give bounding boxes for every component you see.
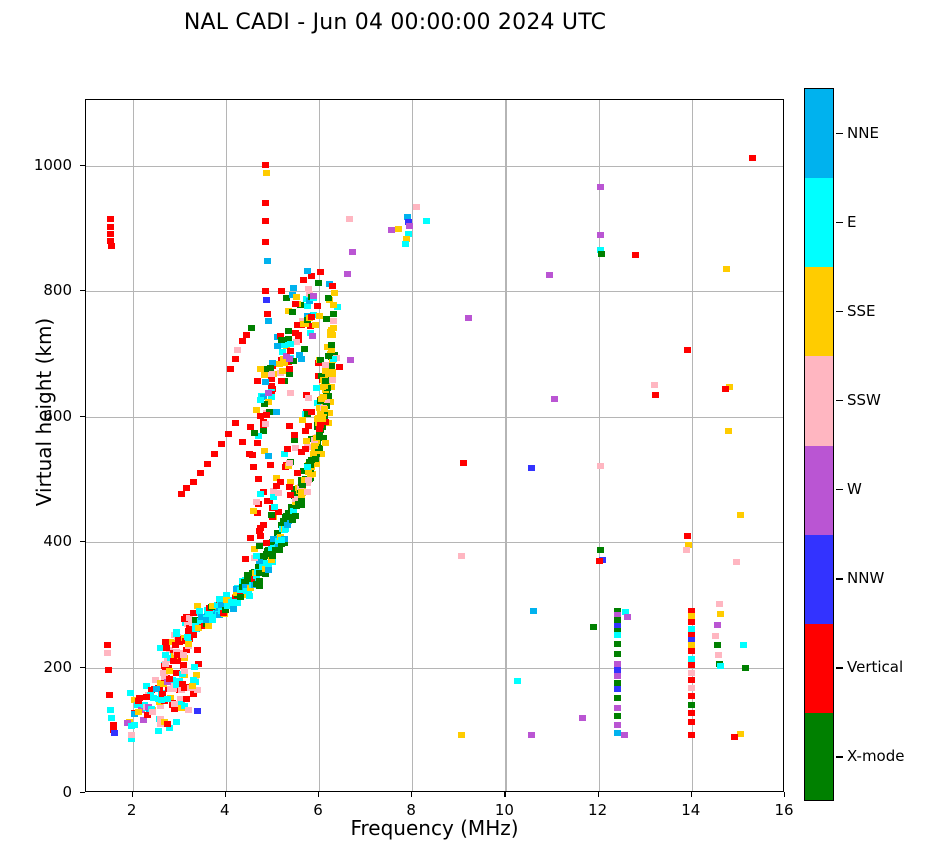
echo-mark [551, 396, 558, 402]
echo-mark [164, 696, 171, 702]
echo-mark [262, 218, 269, 224]
colorbar-segment-vertical[interactable] [805, 624, 833, 714]
echo-mark [614, 713, 621, 719]
echo-mark [284, 446, 291, 452]
echo-mark [688, 702, 695, 708]
echo-mark [614, 705, 621, 711]
x-axis-tick [132, 792, 133, 797]
echo-mark [315, 280, 322, 286]
echo-mark [322, 440, 329, 446]
colorbar-tick [836, 400, 843, 401]
gridline-vertical [599, 100, 600, 791]
echo-mark [275, 490, 282, 496]
echo-mark [287, 390, 294, 396]
colorbar-label-nne: NNE [847, 124, 879, 142]
echo-mark [614, 632, 621, 638]
echo-mark [344, 271, 351, 277]
echo-mark [225, 431, 232, 437]
echo-mark [321, 406, 328, 412]
echo-mark [246, 593, 253, 599]
echo-mark [714, 622, 721, 628]
echo-mark [298, 502, 305, 508]
echo-mark [265, 390, 272, 396]
echo-mark [104, 650, 111, 656]
echo-mark [162, 639, 169, 645]
colorbar-segment-sse[interactable] [805, 267, 833, 357]
echo-mark [243, 332, 250, 338]
echo-mark [286, 484, 293, 490]
echo-mark [314, 303, 321, 309]
echo-mark [317, 269, 324, 275]
y-axis-tick-label: 1000 [34, 156, 72, 174]
echo-mark [749, 155, 756, 161]
gridline-vertical [226, 100, 227, 791]
echo-mark [286, 366, 293, 372]
echo-mark [181, 668, 188, 674]
echo-mark [263, 297, 270, 303]
echo-mark [279, 368, 286, 374]
echo-mark [262, 200, 269, 206]
echo-mark [251, 430, 258, 436]
echo-mark [204, 461, 211, 467]
echo-mark [712, 633, 719, 639]
echo-mark [530, 608, 537, 614]
echo-mark [311, 443, 318, 449]
echo-mark [105, 667, 112, 673]
ionogram-figure: NAL CADI - Jun 04 00:00:00 2024 UTC 2468… [0, 0, 951, 856]
echo-mark [164, 721, 171, 727]
echo-mark [319, 416, 326, 422]
echo-mark [262, 421, 269, 427]
echo-mark [286, 423, 293, 429]
echo-mark [301, 346, 308, 352]
echo-mark [330, 302, 337, 308]
echo-mark [597, 463, 604, 469]
x-axis-tick [691, 792, 692, 797]
echo-mark [111, 730, 118, 736]
echo-mark [107, 224, 114, 230]
colorbar[interactable] [804, 88, 834, 801]
echo-mark [171, 701, 178, 707]
echo-mark [688, 662, 695, 668]
echo-mark [135, 698, 142, 704]
echo-mark [284, 522, 291, 528]
echo-mark [184, 634, 191, 640]
plot-canvas [86, 100, 783, 791]
echo-mark [278, 537, 285, 543]
echo-mark [309, 333, 316, 339]
echo-mark [714, 642, 721, 648]
echo-mark [528, 732, 535, 738]
echo-mark [388, 227, 395, 233]
echo-mark [178, 491, 185, 497]
x-axis-tick [411, 792, 412, 797]
echo-mark [205, 623, 212, 629]
echo-mark [135, 709, 142, 715]
echo-mark [316, 434, 323, 440]
echo-mark [254, 440, 261, 446]
echo-mark [239, 338, 246, 344]
colorbar-tick [836, 311, 843, 312]
echo-mark [458, 732, 465, 738]
echo-mark [257, 491, 264, 497]
echo-mark [579, 715, 586, 721]
echo-mark [614, 695, 621, 701]
colorbar-tick [836, 133, 843, 134]
echo-mark [614, 680, 621, 686]
echo-mark [329, 283, 336, 289]
echo-mark [688, 719, 695, 725]
echo-mark [723, 266, 730, 272]
echo-mark [295, 332, 302, 338]
colorbar-tick [836, 667, 843, 668]
echo-mark [725, 428, 732, 434]
echo-mark [597, 184, 604, 190]
echo-mark [688, 619, 695, 625]
echo-mark [614, 686, 621, 692]
echo-mark [717, 611, 724, 617]
echo-mark [304, 464, 311, 470]
echo-mark [688, 685, 695, 691]
echo-mark [291, 432, 298, 438]
echo-mark [330, 318, 337, 324]
echo-mark [651, 382, 658, 388]
echo-mark [715, 652, 722, 658]
y-axis-tick-label: 200 [43, 658, 72, 676]
echo-mark [458, 553, 465, 559]
colorbar-segment-ssw[interactable] [805, 356, 833, 446]
echo-mark [267, 462, 274, 468]
gridline-horizontal [86, 291, 783, 292]
echo-mark [717, 663, 724, 669]
echo-mark [253, 553, 260, 559]
echo-mark [191, 664, 198, 670]
echo-mark [304, 489, 311, 495]
echo-mark [285, 328, 292, 334]
y-axis-tick [80, 165, 85, 166]
echo-mark [260, 522, 267, 528]
echo-mark [597, 232, 604, 238]
echo-mark [250, 464, 257, 470]
plot-area[interactable] [85, 99, 784, 792]
echo-mark [261, 372, 268, 378]
echo-mark [737, 512, 744, 518]
echo-mark [406, 223, 413, 229]
echo-mark [598, 251, 605, 257]
echo-mark [155, 728, 162, 734]
echo-mark [234, 347, 241, 353]
echo-mark [688, 693, 695, 699]
gridline-horizontal [86, 166, 783, 167]
echo-mark [173, 719, 180, 725]
echo-mark [688, 648, 695, 654]
echo-mark [305, 395, 312, 401]
echo-mark [688, 613, 695, 619]
echo-mark [304, 268, 311, 274]
echo-mark [308, 314, 315, 320]
colorbar-label-w: W [847, 480, 862, 498]
echo-mark [514, 678, 521, 684]
colorbar-tick [836, 489, 843, 490]
echo-mark [688, 656, 695, 662]
echo-mark [614, 722, 621, 728]
echo-mark [242, 556, 249, 562]
y-axis-tick [80, 416, 85, 417]
y-axis-tick [80, 290, 85, 291]
echo-mark [349, 249, 356, 255]
echo-mark [107, 216, 114, 222]
echo-mark [328, 342, 335, 348]
echo-mark [162, 661, 169, 667]
echo-mark [247, 535, 254, 541]
echo-mark [190, 479, 197, 485]
echo-mark [170, 658, 177, 664]
echo-mark [287, 492, 294, 498]
echo-mark [265, 318, 272, 324]
echo-mark [465, 315, 472, 321]
colorbar-segment-nne[interactable] [805, 89, 833, 179]
colorbar-segment-w[interactable] [805, 446, 833, 536]
gridline-horizontal [86, 417, 783, 418]
echo-mark [253, 499, 260, 505]
echo-mark [318, 396, 325, 402]
colorbar-segment-x-mode[interactable] [805, 713, 833, 801]
echo-mark [688, 670, 695, 676]
echo-mark [614, 730, 621, 736]
echo-mark [322, 378, 329, 384]
echo-mark [596, 558, 603, 564]
colorbar-segment-e[interactable] [805, 178, 833, 268]
echo-mark [265, 567, 272, 573]
echo-mark [614, 673, 621, 679]
echo-mark [740, 642, 747, 648]
echo-mark [211, 451, 218, 457]
echo-mark [254, 378, 261, 384]
echo-mark [262, 239, 269, 245]
echo-mark [614, 617, 621, 623]
echo-mark [316, 313, 323, 319]
colorbar-label-ssw: SSW [847, 391, 881, 409]
echo-mark [688, 677, 695, 683]
gridline-vertical [133, 100, 134, 791]
echo-mark [257, 366, 264, 372]
colorbar-tick [836, 756, 843, 757]
echo-mark [104, 642, 111, 648]
echo-mark [263, 170, 270, 176]
echo-mark [227, 366, 234, 372]
echo-mark [257, 397, 264, 403]
echo-mark [194, 647, 201, 653]
echo-mark [731, 734, 738, 740]
echo-mark [108, 243, 115, 249]
echo-mark [255, 476, 262, 482]
echo-mark [688, 732, 695, 738]
echo-mark [183, 696, 190, 702]
echo-mark [546, 272, 553, 278]
y-axis-tick [80, 541, 85, 542]
echo-mark [287, 348, 294, 354]
echo-mark [328, 363, 335, 369]
echo-mark [329, 377, 336, 383]
echo-mark [107, 231, 114, 237]
echo-mark [250, 508, 257, 514]
echo-mark [262, 288, 269, 294]
echo-mark [308, 409, 315, 415]
echo-mark [281, 451, 288, 457]
echo-mark [346, 216, 353, 222]
echo-mark [303, 438, 310, 444]
echo-mark [263, 412, 270, 418]
echo-mark [336, 364, 343, 370]
echo-mark [652, 392, 659, 398]
echo-mark [230, 606, 237, 612]
echo-mark [262, 162, 269, 168]
echo-mark [278, 378, 285, 384]
echo-mark [300, 277, 307, 283]
echo-mark [312, 456, 319, 462]
y-axis-title: Virtual height (km) [32, 202, 56, 622]
echo-mark [218, 441, 225, 447]
echo-mark [590, 624, 597, 630]
echo-mark [688, 710, 695, 716]
echo-mark [289, 309, 296, 315]
echo-mark [264, 258, 271, 264]
echo-mark [614, 667, 621, 673]
echo-mark [232, 420, 239, 426]
echo-mark [302, 446, 309, 452]
echo-mark [149, 709, 156, 715]
echo-mark [163, 645, 170, 651]
gridline-vertical [505, 100, 506, 791]
echo-mark [688, 642, 695, 648]
colorbar-tick [836, 222, 843, 223]
echo-mark [131, 722, 138, 728]
echo-mark [140, 717, 147, 723]
echo-mark [265, 453, 272, 459]
echo-mark [127, 690, 134, 696]
colorbar-segment-nnw[interactable] [805, 535, 833, 625]
echo-mark [189, 683, 196, 689]
echo-mark [312, 322, 319, 328]
echo-mark [460, 460, 467, 466]
echo-mark [330, 325, 337, 331]
echo-mark [423, 218, 430, 224]
echo-mark [322, 368, 329, 374]
echo-mark [528, 465, 535, 471]
x-axis-title: Frequency (MHz) [85, 816, 784, 840]
echo-mark [269, 553, 276, 559]
echo-mark [162, 652, 169, 658]
echo-mark [330, 311, 337, 317]
echo-mark [274, 343, 281, 349]
x-axis-tick [318, 792, 319, 797]
echo-mark [197, 470, 204, 476]
echo-mark [292, 513, 299, 519]
echo-mark [107, 707, 114, 713]
figure-title: NAL CADI - Jun 04 00:00:00 2024 UTC [0, 10, 790, 35]
echo-mark [614, 641, 621, 647]
echo-mark [268, 512, 275, 518]
echo-mark [278, 288, 285, 294]
echo-mark [173, 631, 180, 637]
echo-mark [413, 204, 420, 210]
echo-mark [256, 543, 263, 549]
echo-mark [247, 424, 254, 430]
echo-mark [185, 707, 192, 713]
y-axis-tick [80, 792, 85, 793]
echo-mark [196, 608, 203, 614]
echo-mark [624, 614, 631, 620]
echo-mark [325, 353, 332, 359]
echo-mark [684, 533, 691, 539]
echo-mark [331, 290, 338, 296]
echo-mark [256, 528, 263, 534]
colorbar-label-vertical: Vertical [847, 658, 903, 676]
echo-mark [166, 676, 173, 682]
echo-mark [278, 337, 285, 343]
echo-mark [733, 559, 740, 565]
echo-mark [239, 439, 246, 445]
echo-mark [347, 357, 354, 363]
echo-mark [277, 479, 284, 485]
echo-mark [632, 252, 639, 258]
echo-mark [614, 651, 621, 657]
echo-mark [271, 504, 278, 510]
echo-mark [742, 665, 749, 671]
echo-mark [321, 383, 328, 389]
colorbar-label-x-mode: X-mode [847, 747, 904, 765]
echo-mark [310, 293, 317, 299]
echo-mark [292, 301, 299, 307]
echo-mark [106, 692, 113, 698]
echo-mark [402, 241, 409, 247]
echo-mark [298, 356, 305, 362]
echo-mark [688, 626, 695, 632]
x-axis-tick [504, 792, 505, 797]
echo-mark [108, 715, 115, 721]
echo-mark [232, 599, 239, 605]
echo-mark [290, 285, 297, 291]
echo-mark [683, 547, 690, 553]
echo-mark [183, 485, 190, 491]
echo-mark [166, 668, 173, 674]
x-axis-tick [598, 792, 599, 797]
y-axis-tick-label: 0 [62, 783, 72, 801]
echo-mark [256, 578, 263, 584]
echo-mark [716, 601, 723, 607]
gridline-horizontal [86, 542, 783, 543]
echo-mark [286, 460, 293, 466]
echo-mark [267, 365, 274, 371]
echo-mark [684, 347, 691, 353]
echo-mark [194, 708, 201, 714]
echo-mark [249, 452, 256, 458]
echo-mark [276, 547, 283, 553]
x-axis-tick [784, 792, 785, 797]
echo-mark [262, 379, 269, 385]
colorbar-tick [836, 578, 843, 579]
echo-mark [614, 661, 621, 667]
echo-mark [286, 356, 293, 362]
echo-mark [737, 731, 744, 737]
echo-mark [143, 694, 150, 700]
x-axis-tick [225, 792, 226, 797]
echo-mark [305, 469, 312, 475]
colorbar-label-sse: SSE [847, 302, 876, 320]
echo-mark [268, 371, 275, 377]
echo-mark [299, 417, 306, 423]
echo-mark [128, 732, 135, 738]
